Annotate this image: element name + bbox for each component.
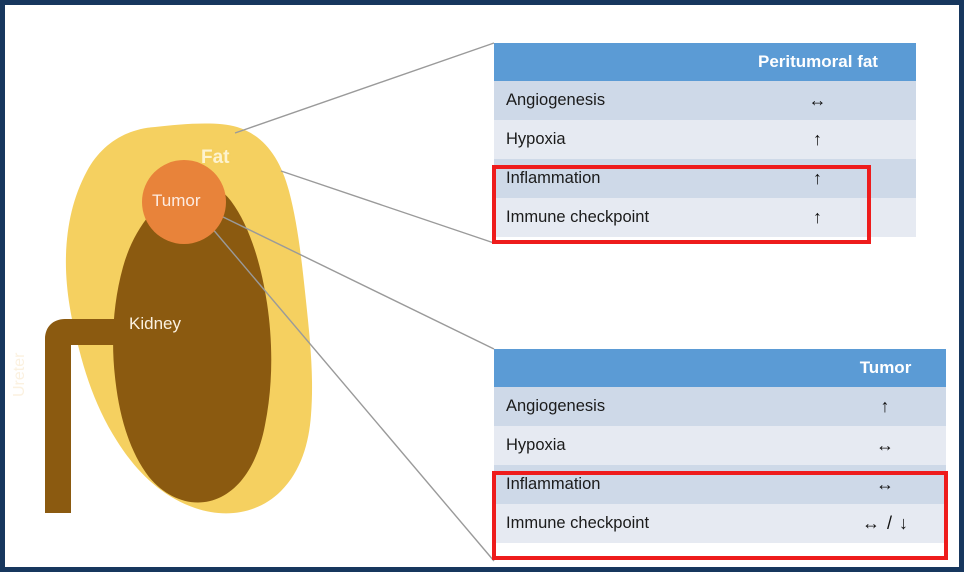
table-row: Angiogenesis ↔ — [494, 81, 916, 120]
table-header-row: Peritumoral fat — [494, 43, 916, 81]
table-row: Inflammation ↔ — [494, 465, 946, 504]
row-value-immune-checkpoint: ↑ — [720, 198, 916, 237]
row-value-angiogenesis: ↔ — [720, 81, 916, 120]
table-row: Hypoxia ↔ — [494, 426, 946, 465]
row-value-hypoxia: ↔ — [825, 426, 946, 465]
row-value-immune-checkpoint: ↔ / ↓ — [825, 504, 946, 543]
leader-line-fat-bottom — [281, 171, 494, 243]
table-row: Inflammation ↑ — [494, 159, 916, 198]
figure-container: Fat Tumor Kidney Ureter Peritumoral fat … — [0, 0, 964, 572]
header-peritumoral-fat: Peritumoral fat — [720, 43, 916, 81]
row-value-inflammation: ↔ — [825, 465, 946, 504]
row-value-inflammation: ↑ — [720, 159, 916, 198]
row-label-inflammation: Inflammation — [494, 465, 825, 504]
table-row: Hypoxia ↑ — [494, 120, 916, 159]
row-label-immune-checkpoint: Immune checkpoint — [494, 504, 825, 543]
table-row: Immune checkpoint ↔ / ↓ — [494, 504, 946, 543]
header-blank — [494, 43, 720, 81]
row-value-angiogenesis: ↑ — [825, 387, 946, 426]
header-blank — [494, 349, 825, 387]
table-peritumoral-fat: Peritumoral fat Angiogenesis ↔ Hypoxia ↑… — [494, 43, 916, 237]
header-tumor: Tumor — [825, 349, 946, 387]
table-tumor: Tumor Angiogenesis ↑ Hypoxia ↔ Inflammat… — [494, 349, 946, 543]
row-value-hypoxia: ↑ — [720, 120, 916, 159]
row-label-hypoxia: Hypoxia — [494, 426, 825, 465]
row-label-angiogenesis: Angiogenesis — [494, 81, 720, 120]
table-header-row: Tumor — [494, 349, 946, 387]
leader-line-fat-top — [235, 43, 494, 133]
tumor-shape — [142, 160, 226, 244]
table-row: Angiogenesis ↑ — [494, 387, 946, 426]
table-row: Immune checkpoint ↑ — [494, 198, 916, 237]
row-label-inflammation: Inflammation — [494, 159, 720, 198]
row-label-hypoxia: Hypoxia — [494, 120, 720, 159]
row-label-immune-checkpoint: Immune checkpoint — [494, 198, 720, 237]
row-label-angiogenesis: Angiogenesis — [494, 387, 825, 426]
